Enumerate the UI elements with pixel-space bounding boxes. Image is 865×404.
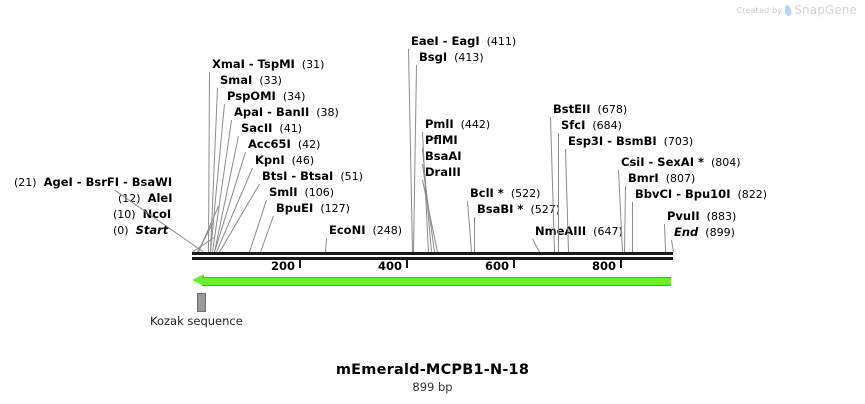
enzyme-name: KpnI (255, 153, 285, 167)
site-leader-line (624, 186, 626, 252)
enzyme-name: BsaWI (132, 175, 172, 189)
enzyme-name: SacII (241, 121, 272, 135)
snapgene-watermark: Created by SnapGene (736, 3, 857, 17)
enzyme-name: SfcI (561, 118, 585, 132)
enzyme-name: BsmBI (616, 134, 657, 148)
site-position: (46) (292, 154, 315, 167)
enzyme-name: Esp3I (568, 134, 603, 148)
site-position: (31) (302, 58, 325, 71)
enzyme-site-label[interactable]: XmaI-TspMI(31) (212, 58, 324, 71)
site-position: (42) (298, 138, 321, 151)
enzyme-site-label[interactable]: SfcI(684) (561, 119, 622, 132)
page-title: mEmerald-MCPB1-N-18 (0, 362, 865, 378)
axis-tick-label: 800 (592, 259, 616, 273)
enzyme-name: SexAI * (657, 155, 704, 169)
enzyme-site-label[interactable]: PmlI(442) (425, 118, 490, 131)
site-position: (822) (737, 188, 767, 201)
enzyme-site-label[interactable]: PvuII(883) (667, 210, 736, 223)
site-leader-line (219, 184, 260, 253)
axis-tick-mark (299, 260, 301, 268)
site-position: (703) (664, 135, 694, 148)
site-leader-line (210, 88, 218, 252)
enzyme-name: Bpu10I (685, 187, 730, 201)
enzyme-site-label[interactable]: PflMI (425, 134, 458, 147)
site-position: (647) (593, 225, 623, 238)
enzyme-name: BtsaI (300, 169, 333, 183)
site-position: (899) (705, 226, 735, 239)
enzyme-name: BsaAI (425, 149, 462, 163)
enzyme-name: BstEII (553, 102, 591, 116)
site-leader-line (214, 136, 239, 252)
site-leader-line (214, 152, 246, 252)
enzyme-name: DraIII (425, 165, 461, 179)
enzyme-site-label[interactable]: BstEII(678) (553, 103, 627, 116)
axis-tick-label: 200 (271, 259, 295, 273)
site-position: (51) (340, 170, 363, 183)
site-position: (442) (461, 118, 491, 131)
enzyme-site-label[interactable]: CsiI-SexAI *(804) (621, 156, 741, 169)
enzyme-name: PvuII (667, 209, 700, 223)
site-leader-line (197, 222, 214, 252)
enzyme-name: CsiI (621, 155, 645, 169)
axis-tick-label: 400 (378, 259, 402, 273)
site-position: (527) (530, 203, 560, 216)
site-position: (684) (592, 119, 622, 132)
site-leader-line (210, 104, 225, 252)
enzyme-name: ApaI (234, 105, 263, 119)
enzyme-site-label[interactable]: SmlI(106) (269, 186, 334, 199)
enzyme-site-label[interactable]: DraIII (425, 166, 461, 179)
site-leader-line (618, 170, 623, 252)
enzyme-name: PmlI (425, 117, 454, 131)
site-position: (522) (511, 187, 541, 200)
enzyme-name: End (674, 225, 698, 239)
site-position: (807) (666, 172, 696, 185)
enzyme-site-label[interactable]: SmaI(33) (220, 74, 282, 87)
axis-tick-label: 600 (485, 259, 509, 273)
kozak-sequence-label: Kozak sequence (150, 314, 243, 328)
enzyme-name: SmaI (220, 73, 252, 87)
site-position: (38) (316, 106, 339, 119)
site-leader-line (208, 72, 210, 252)
enzyme-name: BtsI (262, 169, 287, 183)
enzyme-site-label[interactable]: EcoNI(248) (329, 224, 402, 237)
site-leader-line (422, 180, 438, 252)
axis-tick-mark (620, 260, 622, 268)
enzyme-name: BsaBI * (477, 202, 523, 216)
enzyme-name: EagI (451, 34, 479, 48)
site-position: (34) (283, 90, 306, 103)
site-leader-line (632, 202, 633, 252)
site-leader-line (408, 49, 413, 252)
site-position: (248) (372, 224, 402, 237)
enzyme-site-label[interactable]: End(899) (674, 226, 735, 239)
site-leader-line (249, 200, 267, 252)
site-position: (678) (598, 103, 628, 116)
site-leader-line (467, 201, 472, 252)
enzyme-site-label[interactable]: EaeI-EagI(411) (411, 35, 516, 48)
site-leader-line (192, 238, 214, 253)
enzyme-site-label[interactable]: BpuEI(127) (276, 202, 350, 215)
enzyme-site-label[interactable]: BtsI-BtsaI(51) (262, 170, 363, 183)
site-position: (413) (454, 51, 484, 64)
enzyme-name: PspOMI (227, 89, 276, 103)
watermark-created-by-text: Created by (736, 6, 782, 15)
enzyme-site-label[interactable]: Acc65I(42) (248, 138, 320, 151)
site-leader-line (664, 224, 666, 252)
axis-tick-mark (406, 260, 408, 268)
enzyme-site-label[interactable]: (12)AleI (118, 192, 173, 205)
enzyme-name: BpuEI (276, 201, 313, 215)
site-leader-line (212, 120, 232, 252)
site-leader-line (325, 238, 327, 252)
axis-tick-mark (513, 260, 515, 268)
enzyme-name: NcoI (143, 207, 172, 221)
site-position: (127) (320, 202, 350, 215)
enzyme-name: BanII (276, 105, 309, 119)
watermark-brand-text: SnapGene (794, 3, 857, 17)
enzyme-name: AgeI (44, 175, 73, 189)
enzyme-site-label[interactable]: (21)AgeI-BsrFI-BsaWI (14, 176, 172, 189)
enzyme-name: PflMI (425, 133, 458, 147)
backbone-line-top (192, 252, 673, 255)
enzyme-site-label[interactable]: BmrI(807) (628, 172, 695, 185)
enzyme-name: Acc65I (248, 137, 291, 151)
site-position: (883) (707, 210, 737, 223)
enzyme-site-label[interactable]: BsaAI (425, 150, 462, 163)
site-position: (21) (14, 176, 37, 189)
enzyme-name: BsrFI (86, 175, 119, 189)
enzyme-name: BclI * (470, 186, 504, 200)
enzyme-site-label[interactable]: BclI *(522) (470, 187, 540, 200)
site-position: (41) (279, 122, 302, 135)
enzyme-name: XmaI (212, 57, 245, 71)
enzyme-site-label[interactable]: (10)NcoI (113, 208, 171, 221)
enzyme-site-label[interactable]: Esp3I-BsmBI(703) (568, 135, 693, 148)
site-position: (33) (259, 74, 282, 87)
enzyme-site-label[interactable]: PspOMI(34) (227, 90, 305, 103)
snapgene-leaf-icon (784, 4, 792, 16)
kozak-sequence-feature[interactable] (197, 293, 206, 312)
site-position: (411) (487, 35, 517, 48)
enzyme-site-label[interactable]: NmeAIII(647) (535, 225, 623, 238)
enzyme-site-label[interactable]: (0)Start (113, 224, 168, 237)
site-leader-line (532, 239, 540, 252)
site-position: (804) (711, 156, 741, 169)
enzyme-name: BbvCI (635, 187, 672, 201)
enzyme-site-label[interactable]: ApaI-BanII(38) (234, 106, 339, 119)
site-leader-line (413, 65, 417, 252)
enzyme-site-label[interactable]: BbvCI-Bpu10I(822) (635, 188, 767, 201)
enzyme-name: Start (136, 223, 169, 237)
orf-arrow[interactable] (192, 274, 671, 287)
site-leader-line (260, 216, 274, 252)
site-leader-line (216, 168, 253, 252)
enzyme-name: AleI (148, 191, 173, 205)
enzyme-site-label[interactable]: BsgI(413) (419, 51, 484, 64)
site-position: (12) (118, 192, 141, 205)
enzyme-name: EcoNI (329, 223, 365, 237)
site-leader-line (198, 206, 219, 252)
site-leader-line (474, 217, 475, 252)
enzyme-name: BmrI (628, 171, 659, 185)
backbone-line-bottom (192, 257, 673, 260)
enzyme-site-label[interactable]: KpnI(46) (255, 154, 314, 167)
sequence-length-label: 899 bp (0, 380, 865, 394)
enzyme-site-label[interactable]: BsaBI *(527) (477, 203, 560, 216)
site-position: (106) (305, 186, 335, 199)
site-position: (0) (113, 224, 129, 237)
enzyme-name: SmlI (269, 185, 298, 199)
enzyme-name: BsgI (419, 50, 447, 64)
site-position: (10) (113, 208, 136, 221)
site-leader-line (671, 240, 674, 252)
orf-arrow-shaft (202, 277, 671, 286)
site-leader-line (422, 148, 432, 252)
enzyme-site-label[interactable]: SacII(41) (241, 122, 302, 135)
enzyme-name: EaeI (411, 34, 439, 48)
enzyme-name: NmeAIII (535, 224, 586, 238)
enzyme-name: TspMI (258, 57, 295, 71)
